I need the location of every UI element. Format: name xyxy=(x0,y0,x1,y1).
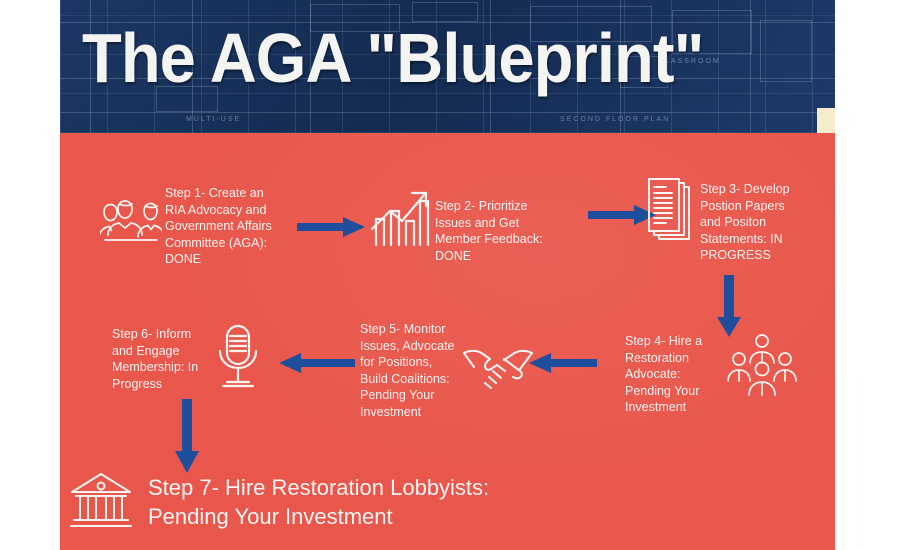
bar-chart-growth-icon xyxy=(370,189,432,247)
team-pyramid-icon xyxy=(725,333,799,397)
step-1-text: Step 1- Create an RIA Advocacy and Gover… xyxy=(165,185,305,268)
blueprint-label-multiuse: MULTI-USE xyxy=(186,116,241,123)
header-corner-notch xyxy=(817,108,835,133)
step-2-text: Step 2- Prioritize Issues and Get Member… xyxy=(435,198,585,264)
step-3-text: Step 3- Develop Postion Papers and Posit… xyxy=(700,181,835,264)
header-blueprint-band: MULTI-USE SECOND FLOOR PLAN CLASSROOM Th… xyxy=(60,0,835,133)
infographic-canvas: MULTI-USE SECOND FLOOR PLAN CLASSROOM Th… xyxy=(0,0,900,550)
arrow-step3-to-step4 xyxy=(715,275,743,337)
handshake-icon xyxy=(460,345,536,393)
steps-body: Step 1- Create an RIA Advocacy and Gover… xyxy=(60,133,835,550)
group-of-people-icon xyxy=(100,193,162,245)
stacked-documents-icon xyxy=(635,175,693,243)
arrow-step6-to-step7 xyxy=(173,399,201,473)
page-title: The AGA "Blueprint" xyxy=(82,10,761,106)
microphone-icon xyxy=(210,323,266,389)
step-7-text: Step 7- Hire Restoration Lobbyists: Pend… xyxy=(148,473,618,531)
arrow-step5-to-step6 xyxy=(275,351,355,375)
government-building-icon xyxy=(68,470,134,532)
blueprint-label-floorplan: SECOND FLOOR PLAN xyxy=(560,116,670,123)
arrow-step1-to-step2 xyxy=(297,215,365,239)
